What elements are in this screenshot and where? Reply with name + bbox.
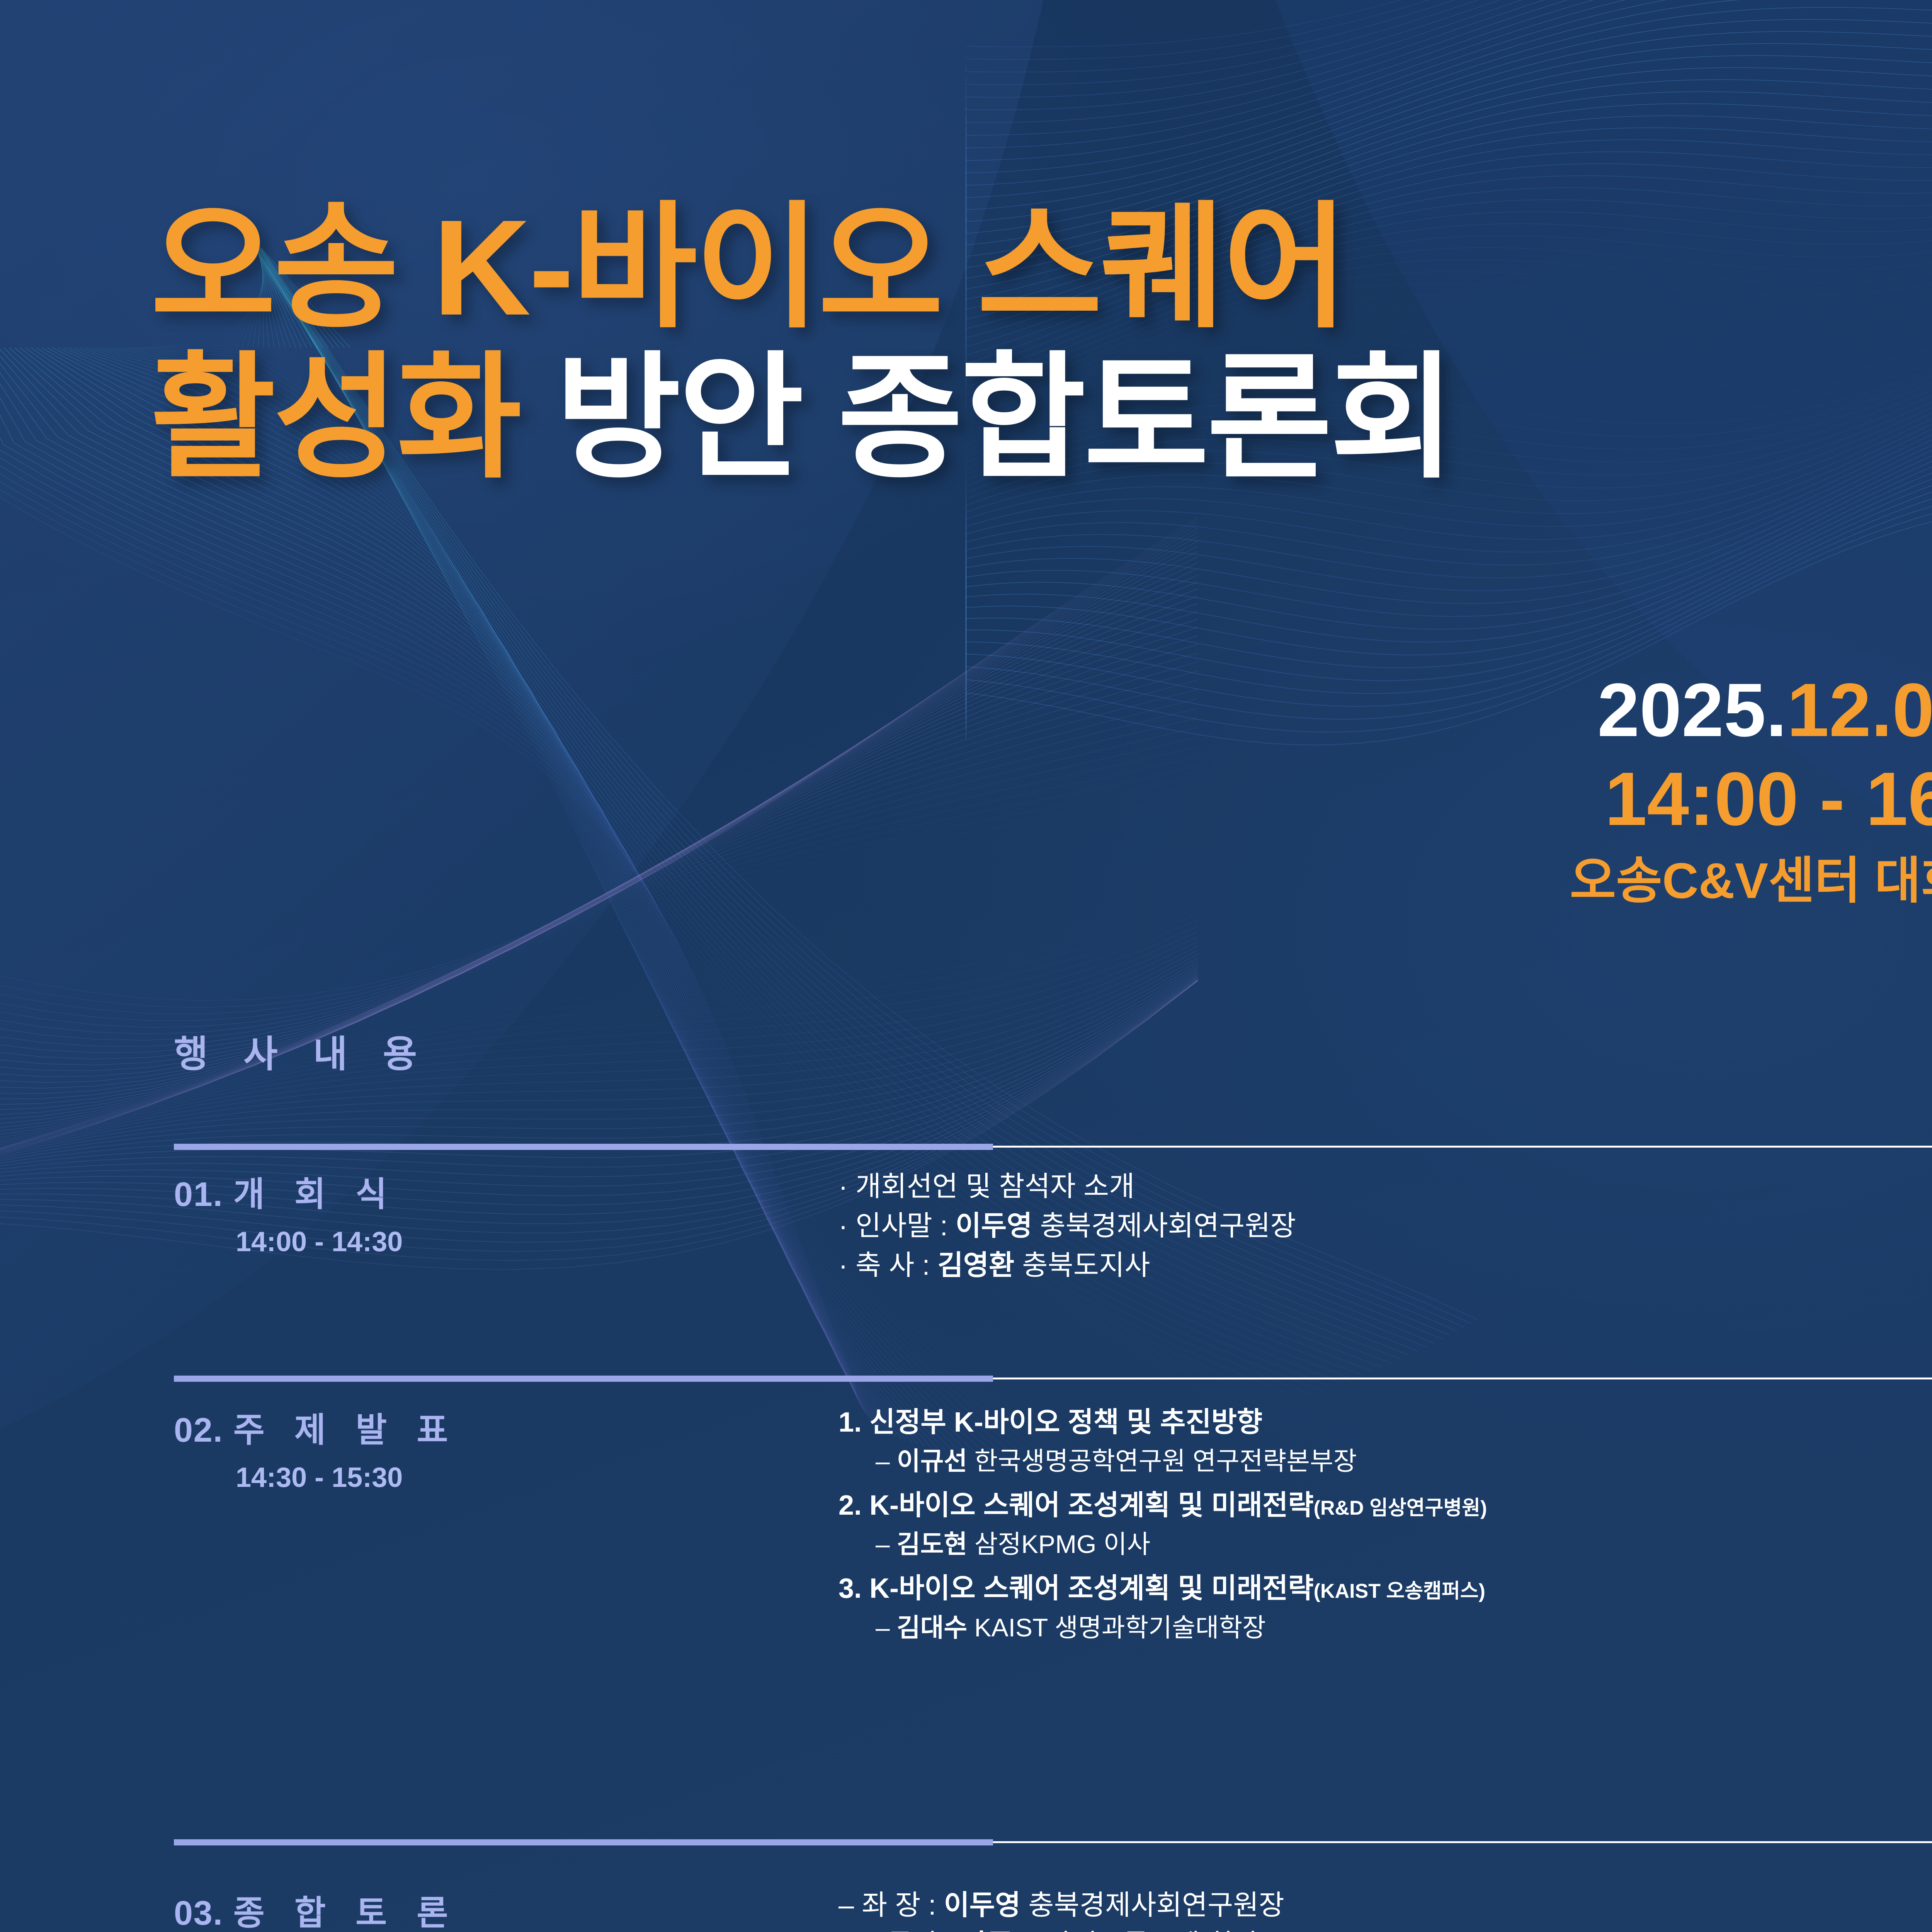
title-line-2-orange: 활성화 bbox=[151, 342, 520, 494]
title-line-2-white: 방안 종합토론회 bbox=[556, 342, 1453, 494]
discussion-chair: – 좌 장 : 이두영 충북경제사회연구원장 bbox=[838, 1886, 1932, 1925]
poster-title: 오송 K-바이오 스퀘어 활성화 방안 종합토론회 bbox=[151, 201, 1932, 485]
divider-1 bbox=[174, 1144, 1932, 1150]
session-01-item-2: · 인사말 : 이두영 충북경제사회연구원장 bbox=[838, 1206, 1932, 1246]
poster-canvas: 오송 K-바이오 스퀘어 활성화 방안 종합토론회 2025.12.08MON … bbox=[0, 0, 1932, 1932]
session-01-left: 01. 개 회 식 14:00 - 14:30 bbox=[174, 1167, 831, 1258]
talk-2-speaker: – 김도현 삼정KPMG 이사 bbox=[838, 1525, 1932, 1563]
event-date: 2025.12.08MON bbox=[1570, 672, 1932, 748]
divider-3 bbox=[174, 1839, 1932, 1845]
session-03-content: – 좌 장 : 이두영 충북경제사회연구원장 – 토론자 : 강종구 바이오톡스… bbox=[838, 1886, 1932, 1932]
event-date-monthday: 12.08 bbox=[1787, 668, 1932, 752]
session-02-time: 14:30 - 15:30 bbox=[236, 1462, 831, 1493]
talk-3-title: 3. K-바이오 스퀘어 조성계획 및 미래전략(KAIST 오송캠퍼스) bbox=[838, 1569, 1932, 1608]
discussion-panel-first: – 토론자 : 강종구 바이오톡스텍 회장 bbox=[838, 1925, 1932, 1932]
session-01-title: 01. 개 회 식 bbox=[174, 1167, 831, 1216]
event-venue: 오송C&V센터 대회의실 bbox=[1570, 855, 1932, 906]
divider-2 bbox=[174, 1376, 1932, 1382]
session-01-content: · 개회선언 및 참석자 소개 · 인사말 : 이두영 충북경제사회연구원장 ·… bbox=[838, 1167, 1932, 1286]
event-date-year: 2025. bbox=[1597, 668, 1787, 752]
session-01-item-1: · 개회선언 및 참석자 소개 bbox=[838, 1167, 1932, 1206]
talk-1-title: 1. 신정부 K-바이오 정책 및 추진방향 bbox=[838, 1403, 1932, 1442]
session-02-title: 02. 주 제 발 표 bbox=[174, 1403, 831, 1452]
title-line-2: 활성화 방안 종합토론회 bbox=[151, 351, 1932, 485]
session-02-left: 02. 주 제 발 표 14:30 - 15:30 bbox=[174, 1403, 831, 1493]
session-03-left: 03. 종 합 토 론 15:30 - 16:30 bbox=[174, 1886, 831, 1932]
session-02-content: 1. 신정부 K-바이오 정책 및 추진방향 – 이규선 한국생명공학연구원 연… bbox=[838, 1403, 1932, 1647]
title-line-1: 오송 K-바이오 스퀘어 bbox=[151, 201, 1932, 334]
session-01-item-3: · 축 사 : 김영환 충북도지사 bbox=[838, 1246, 1932, 1285]
talk-3-speaker: – 김대수 KAIST 생명과학기술대학장 bbox=[838, 1609, 1932, 1647]
session-01-time: 14:00 - 14:30 bbox=[236, 1226, 831, 1258]
program-heading: 행 사 내 용 bbox=[174, 1024, 430, 1078]
talk-1-speaker: – 이규선 한국생명공학연구원 연구전략본부장 bbox=[838, 1442, 1932, 1480]
event-time: 14:00 - 16:30 bbox=[1570, 761, 1932, 837]
session-03-title: 03. 종 합 토 론 bbox=[174, 1886, 831, 1932]
talk-2-title: 2. K-바이오 스퀘어 조성계획 및 미래전략(R&D 임상연구병원) bbox=[838, 1486, 1932, 1525]
event-datetime-block: 2025.12.08MON 14:00 - 16:30 오송C&V센터 대회의실 bbox=[1570, 672, 1932, 906]
